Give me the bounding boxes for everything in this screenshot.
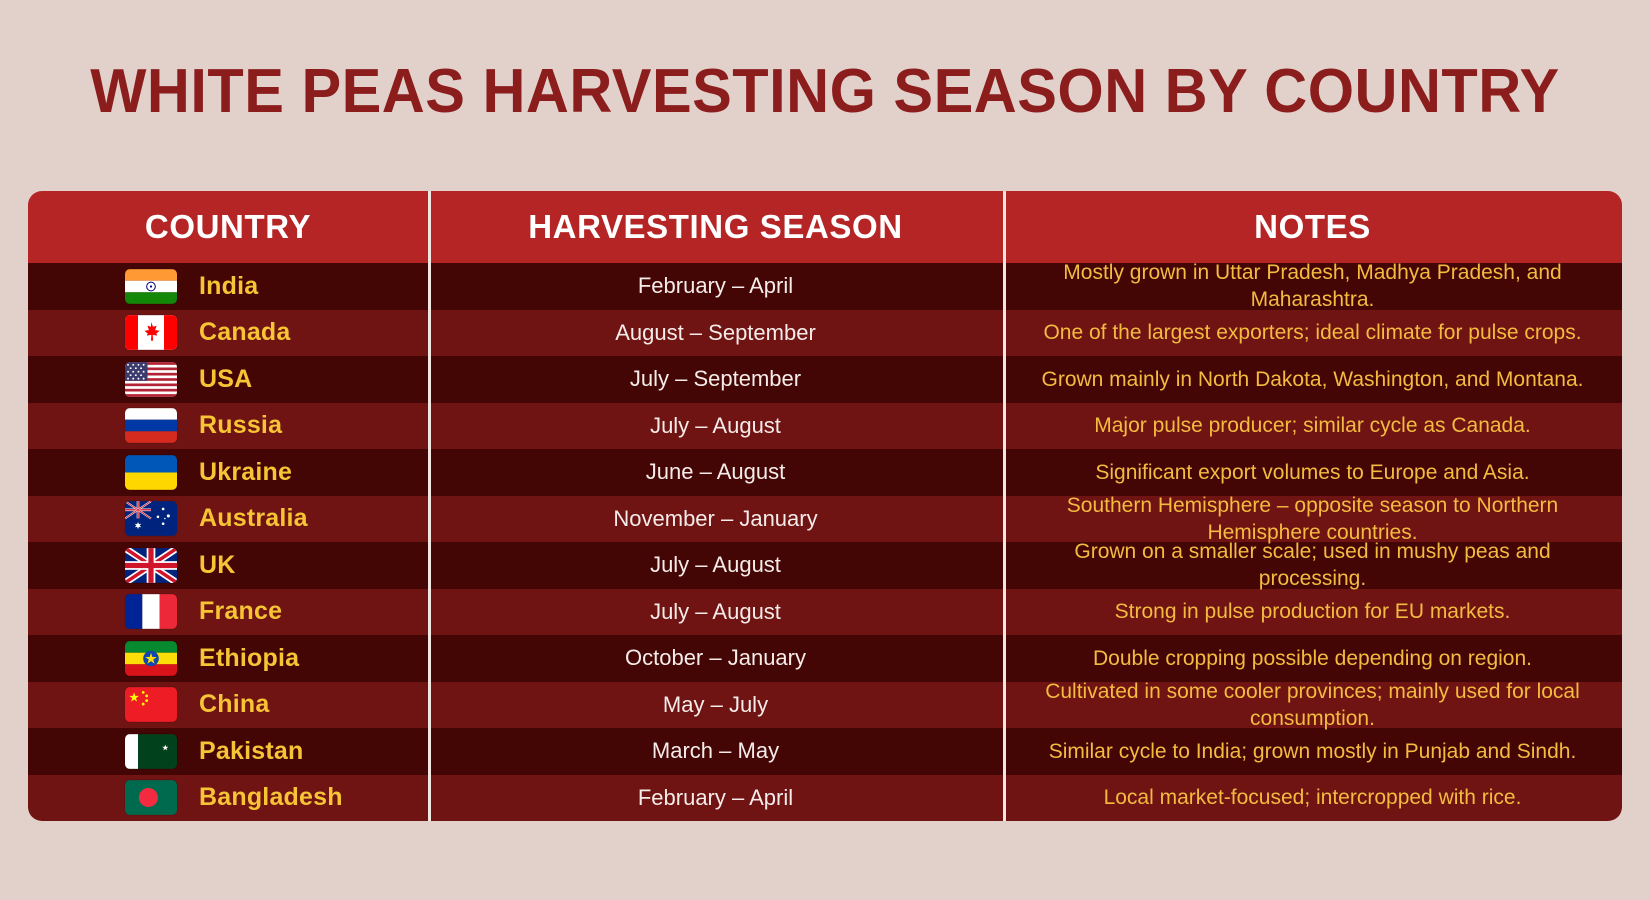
cell-harvesting-season: November – January [428,496,1003,543]
cell-notes: Double cropping possible depending on re… [1003,635,1622,682]
country-label: Ethiopia [199,644,299,673]
cell-harvesting-season: July – August [428,542,1003,589]
table-row: EthiopiaOctober – JanuaryDouble cropping… [28,635,1622,682]
column-header-harvesting-season: HARVESTING SEASON [428,191,1003,263]
harvest-table: COUNTRY HARVESTING SEASON NOTES IndiaFeb… [28,191,1622,821]
flag-russia-icon [125,408,177,443]
cell-harvesting-season: March – May [428,728,1003,775]
country-label: UK [199,551,236,580]
country-label: China [199,690,269,719]
cell-country: China [28,682,428,729]
table-row: RussiaJuly – AugustMajor pulse producer;… [28,403,1622,450]
table-row: USAJuly – SeptemberGrown mainly in North… [28,356,1622,403]
notes-text: One of the largest exporters; ideal clim… [1019,319,1606,346]
notes-text: Major pulse producer; similar cycle as C… [1019,412,1606,439]
cell-notes: Significant export volumes to Europe and… [1003,449,1622,496]
table-row: PakistanMarch – MaySimilar cycle to Indi… [28,728,1622,775]
cell-harvesting-season: October – January [428,635,1003,682]
flag-ethiopia-icon [125,641,177,676]
cell-notes: One of the largest exporters; ideal clim… [1003,310,1622,357]
cell-country: UK [28,542,428,589]
cell-country: Australia [28,496,428,543]
country-label: Canada [199,318,291,347]
flag-canada-icon [125,315,177,350]
cell-harvesting-season: July – August [428,589,1003,636]
flag-usa-icon [125,362,177,397]
cell-country: France [28,589,428,636]
table-row: IndiaFebruary – AprilMostly grown in Utt… [28,263,1622,310]
cell-notes: Grown mainly in North Dakota, Washington… [1003,356,1622,403]
flag-india-icon [125,269,177,304]
cell-harvesting-season: February – April [428,263,1003,310]
cell-country: India [28,263,428,310]
notes-text: Grown on a smaller scale; used in mushy … [1019,538,1606,592]
notes-text: Grown mainly in North Dakota, Washington… [1019,366,1606,393]
cell-harvesting-season: July – September [428,356,1003,403]
cell-country: Canada [28,310,428,357]
cell-harvesting-season: February – April [428,775,1003,822]
cell-country: Ethiopia [28,635,428,682]
country-label: Australia [199,504,308,533]
notes-text: Local market-focused; intercropped with … [1019,784,1606,811]
table-row: FranceJuly – AugustStrong in pulse produ… [28,589,1622,636]
cell-notes: Cultivated in some cooler provinces; mai… [1003,682,1622,729]
country-label: Bangladesh [199,783,343,812]
flag-pakistan-icon [125,734,177,769]
cell-notes: Southern Hemisphere – opposite season to… [1003,496,1622,543]
flag-australia-icon [125,501,177,536]
cell-notes: Mostly grown in Uttar Pradesh, Madhya Pr… [1003,263,1622,310]
cell-notes: Major pulse producer; similar cycle as C… [1003,403,1622,450]
table-row: UKJuly – AugustGrown on a smaller scale;… [28,542,1622,589]
flag-bangladesh-icon [125,780,177,815]
cell-harvesting-season: May – July [428,682,1003,729]
notes-text: Mostly grown in Uttar Pradesh, Madhya Pr… [1019,259,1606,313]
table-row: UkraineJune – AugustSignificant export v… [28,449,1622,496]
flag-uk-icon [125,548,177,583]
table-header-row: COUNTRY HARVESTING SEASON NOTES [28,191,1622,263]
notes-text: Strong in pulse production for EU market… [1019,598,1606,625]
column-header-notes: NOTES [1003,191,1622,263]
flag-china-icon [125,687,177,722]
country-label: France [199,597,282,626]
cell-country: USA [28,356,428,403]
cell-notes: Local market-focused; intercropped with … [1003,775,1622,822]
table-row: BangladeshFebruary – AprilLocal market-f… [28,775,1622,822]
table-row: ChinaMay – JulyCultivated in some cooler… [28,682,1622,729]
column-header-country: COUNTRY [28,191,428,263]
country-label: USA [199,365,252,394]
country-label: Pakistan [199,737,303,766]
notes-text: Cultivated in some cooler provinces; mai… [1019,678,1606,732]
infographic-page: WHITE PEAS HARVESTING SEASON BY COUNTRY … [0,0,1650,900]
cell-country: Pakistan [28,728,428,775]
cell-notes: Strong in pulse production for EU market… [1003,589,1622,636]
table-row: AustraliaNovember – JanuarySouthern Hemi… [28,496,1622,543]
flag-france-icon [125,594,177,629]
country-label: Russia [199,411,282,440]
notes-text: Similar cycle to India; grown mostly in … [1019,738,1606,765]
flag-ukraine-icon [125,455,177,490]
country-label: Ukraine [199,458,292,487]
cell-country: Bangladesh [28,775,428,822]
notes-text: Significant export volumes to Europe and… [1019,459,1606,486]
table-row: CanadaAugust – SeptemberOne of the large… [28,310,1622,357]
cell-country: Ukraine [28,449,428,496]
cell-notes: Grown on a smaller scale; used in mushy … [1003,542,1622,589]
page-title: WHITE PEAS HARVESTING SEASON BY COUNTRY [33,56,1617,128]
country-label: India [199,272,258,301]
cell-notes: Similar cycle to India; grown mostly in … [1003,728,1622,775]
table-body: IndiaFebruary – AprilMostly grown in Utt… [28,263,1622,821]
cell-harvesting-season: August – September [428,310,1003,357]
cell-harvesting-season: June – August [428,449,1003,496]
cell-country: Russia [28,403,428,450]
notes-text: Double cropping possible depending on re… [1019,645,1606,672]
cell-harvesting-season: July – August [428,403,1003,450]
